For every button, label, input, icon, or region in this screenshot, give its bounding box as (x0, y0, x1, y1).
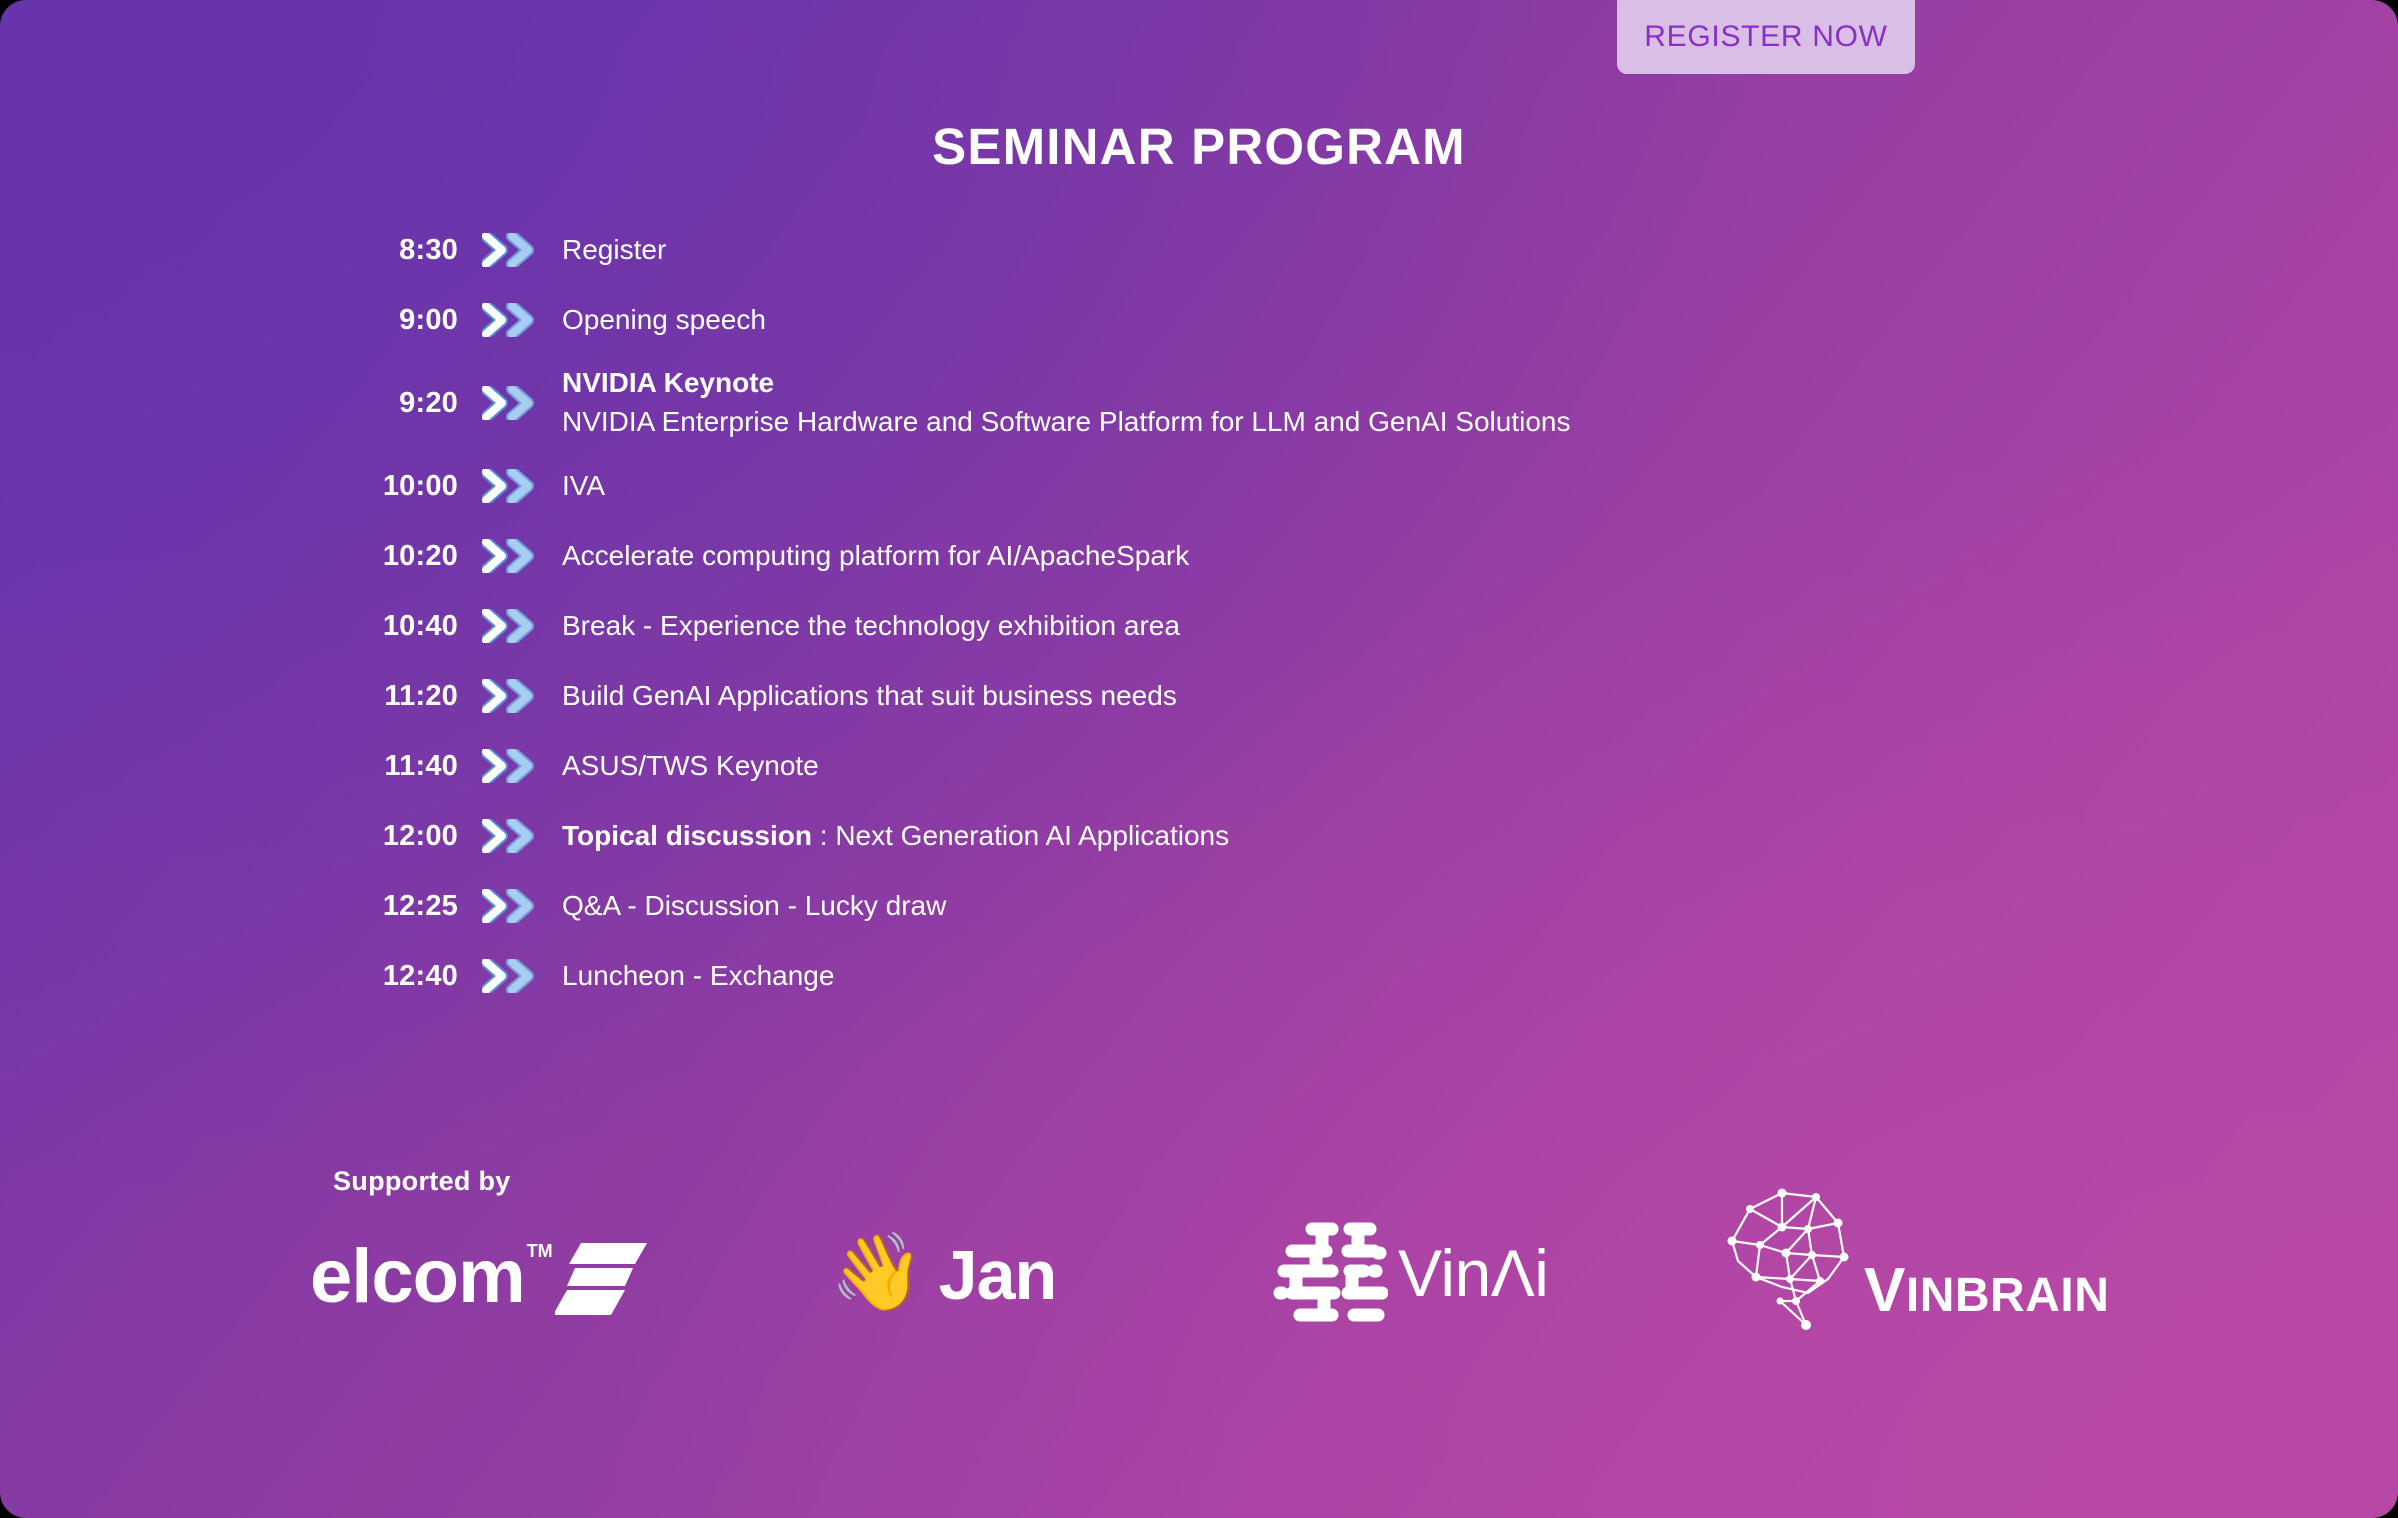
agenda-text: Q&A - Discussion - Lucky draw (562, 887, 946, 926)
agenda-time: 12:40 (336, 960, 458, 993)
logo-elcom[interactable]: elcom TM (310, 1208, 647, 1338)
waving-hand-icon: 👋 (830, 1235, 925, 1311)
agenda-row: 10:20 Accelerate computing platform for … (0, 521, 2398, 591)
double-chevron-right-icon (478, 889, 542, 923)
agenda-text: ASUS/TWS Keynote (562, 747, 819, 786)
agenda-time: 9:20 (336, 387, 458, 420)
agenda-time: 11:20 (336, 680, 458, 713)
double-chevron-right-icon (478, 959, 542, 993)
agenda-text: Topical discussion : Next Generation AI … (562, 817, 1229, 856)
agenda-row: 10:40 Break - Experience the technology … (0, 591, 2398, 661)
double-chevron-right-icon (478, 539, 542, 573)
agenda-row: 12:00 Topical discussion : Next Generati… (0, 801, 2398, 871)
vinbrain-initial: V (1864, 1256, 1906, 1325)
double-chevron-right-icon (478, 609, 542, 643)
vinai-wordmark: VinΛi (1398, 1240, 1548, 1306)
double-chevron-right-icon (478, 303, 542, 337)
agenda-text: Build GenAI Applications that suit busin… (562, 677, 1177, 716)
vinai-circuit-icon (1270, 1217, 1388, 1330)
agenda-row: 9:20 NVIDIA Keynote NVIDIA Enterprise Ha… (0, 355, 2398, 451)
agenda-row: 8:30 Register (0, 215, 2398, 285)
agenda-time: 10:20 (336, 540, 458, 573)
double-chevron-right-icon (478, 233, 542, 267)
agenda-time: 8:30 (336, 234, 458, 267)
agenda-row: 11:40 ASUS/TWS Keynote (0, 731, 2398, 801)
agenda-text: NVIDIA Keynote NVIDIA Enterprise Hardwar… (562, 364, 1570, 441)
page-title: SEMINAR PROGRAM (0, 117, 2398, 176)
agenda-time: 10:40 (336, 610, 458, 643)
trademark-symbol: TM (527, 1241, 553, 1262)
agenda-subtitle: NVIDIA Enterprise Hardware and Software … (562, 403, 1570, 442)
agenda-row: 10:00 IVA (0, 451, 2398, 521)
agenda-text: Break - Experience the technology exhibi… (562, 607, 1180, 646)
agenda-row: 12:40 Luncheon - Exchange (0, 941, 2398, 1011)
seminar-program-poster: REGISTER NOW SEMINAR PROGRAM 8:30 Regist… (0, 0, 2398, 1518)
register-now-button[interactable]: REGISTER NOW (1617, 0, 1915, 74)
elcom-wordmark: elcom (310, 1239, 525, 1315)
agenda-row: 12:25 Q&A - Discussion - Lucky draw (0, 871, 2398, 941)
vinbrain-rest: INBRAIN (1906, 1269, 2110, 1322)
agenda-text: IVA (562, 467, 605, 506)
agenda-row: 9:00 Opening speech (0, 285, 2398, 355)
agenda-time: 12:00 (336, 820, 458, 853)
logo-vinbrain[interactable]: VINBRAIN (1720, 1196, 2109, 1326)
double-chevron-right-icon (478, 469, 542, 503)
brain-network-icon (1720, 1183, 1870, 1340)
vinbrain-wordmark: VINBRAIN (1864, 1260, 2109, 1322)
agenda-text: Opening speech (562, 301, 766, 340)
agenda-lead: Topical discussion (562, 820, 812, 851)
logo-jan[interactable]: 👋 Jan (830, 1210, 1056, 1340)
agenda-title: NVIDIA Keynote (562, 364, 1570, 403)
agenda-text: Accelerate computing platform for AI/Apa… (562, 537, 1189, 576)
agenda-row: 11:20 Build GenAI Applications that suit… (0, 661, 2398, 731)
double-chevron-right-icon (478, 386, 542, 420)
double-chevron-right-icon (478, 679, 542, 713)
supporter-logo-strip: elcom TM 👋 Jan (310, 1208, 2110, 1348)
agenda-time: 10:00 (336, 470, 458, 503)
agenda-list: 8:30 Register 9:00 (0, 215, 2398, 1011)
logo-vinai[interactable]: VinΛi (1270, 1208, 1548, 1338)
agenda-time: 11:40 (336, 750, 458, 783)
agenda-time: 12:25 (336, 890, 458, 923)
agenda-text: Luncheon - Exchange (562, 957, 834, 996)
agenda-time: 9:00 (336, 304, 458, 337)
double-chevron-right-icon (478, 819, 542, 853)
double-chevron-right-icon (478, 749, 542, 783)
supported-by-label: Supported by (333, 1166, 511, 1197)
agenda-text: Register (562, 231, 666, 270)
elcom-e-mark-icon (555, 1227, 647, 1324)
agenda-rest: : Next Generation AI Applications (812, 820, 1229, 851)
jan-wordmark: Jan (939, 1240, 1057, 1310)
